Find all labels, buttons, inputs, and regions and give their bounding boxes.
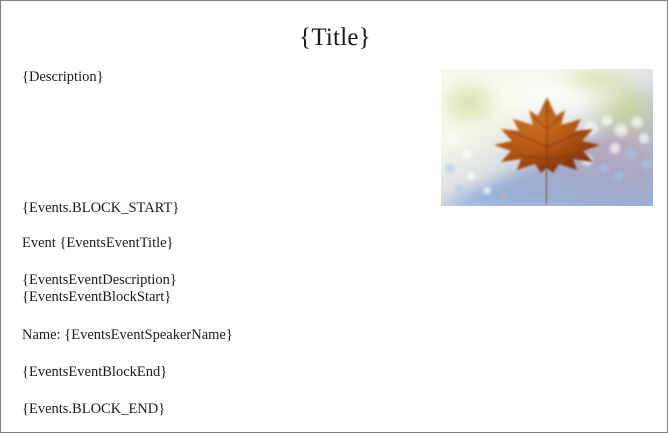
document-page: {Title} {Description} {Events.BLOCK_STAR… xyxy=(0,0,668,433)
paragraph-event-description: {EventsEventDescription} xyxy=(22,272,177,289)
autumn-maple-leaf-photo xyxy=(441,69,653,206)
paragraph-event-block-end: {EventsEventBlockEnd} xyxy=(22,364,167,381)
paragraph-description: {Description} xyxy=(22,69,104,86)
paragraph-block-end: {Events.BLOCK_END} xyxy=(22,401,165,418)
paragraph-speaker-name: Name: {EventsEventSpeakerName} xyxy=(22,327,233,344)
paragraph-event-title: Event {EventsEventTitle} xyxy=(22,235,174,252)
paragraph-event-block-start: {EventsEventBlockStart} xyxy=(22,289,171,306)
page-title: {Title} xyxy=(1,23,668,53)
paragraph-block-start: {Events.BLOCK_START} xyxy=(22,200,179,217)
